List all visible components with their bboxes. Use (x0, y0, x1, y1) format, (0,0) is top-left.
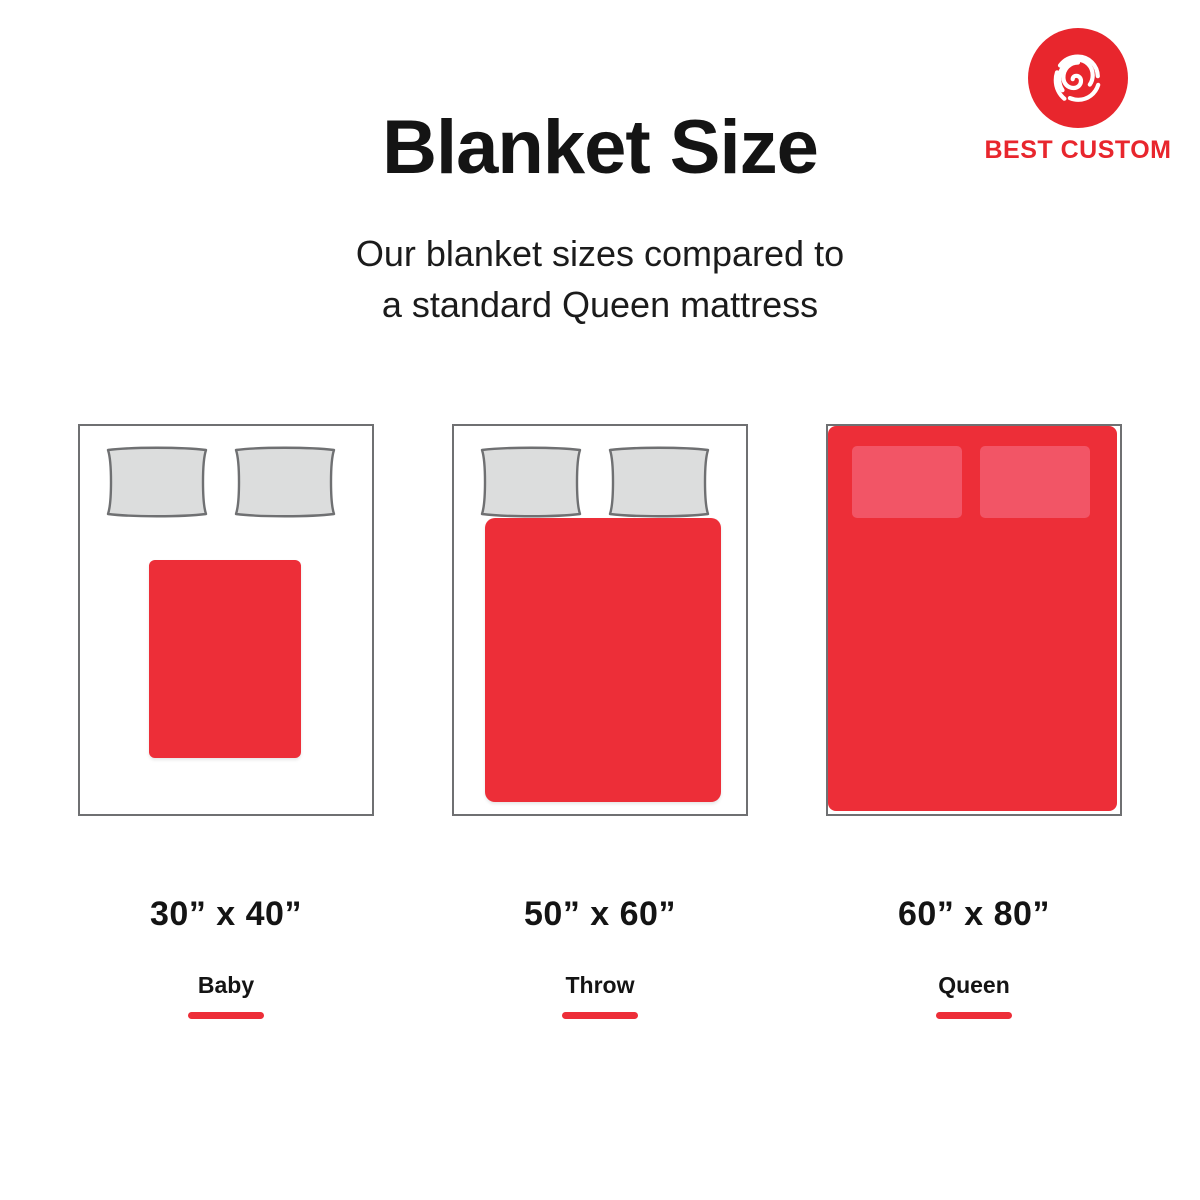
page-subtitle: Our blanket sizes compared to a standard… (0, 228, 1200, 330)
dimensions-label: 60” x 80” (804, 896, 1144, 933)
bed-diagram-row (0, 424, 1200, 824)
pillow-right (604, 446, 714, 518)
accent-underline (936, 1012, 1012, 1019)
pillow-left (852, 446, 962, 518)
size-name-label: Baby (56, 973, 396, 998)
bed-diagram-baby (78, 424, 374, 816)
bed-diagram-throw (452, 424, 748, 816)
dimensions-label: 50” x 60” (430, 896, 770, 933)
blanket-baby (149, 560, 301, 758)
blanket-queen (828, 426, 1117, 811)
size-name-label: Queen (804, 973, 1144, 998)
subtitle-line-1: Our blanket sizes compared to (0, 228, 1200, 279)
caption-row: 30” x 40” Baby 50” x 60” Throw 60” x 80”… (0, 896, 1200, 1056)
pillow-right (980, 446, 1090, 518)
pillow-right (230, 446, 340, 518)
caption-baby: 30” x 40” Baby (56, 896, 396, 1019)
caption-queen: 60” x 80” Queen (804, 896, 1144, 1019)
pillow-left (476, 446, 586, 518)
bed-diagram-queen (826, 424, 1122, 816)
blanket-throw (485, 518, 721, 802)
caption-throw: 50” x 60” Throw (430, 896, 770, 1019)
page-title: Blanket Size (0, 108, 1200, 188)
subtitle-line-2: a standard Queen mattress (0, 279, 1200, 330)
pillow-left (102, 446, 212, 518)
blanket-size-infographic: BEST CUSTOM Blanket Size Our blanket siz… (0, 0, 1200, 1200)
size-name-label: Throw (430, 973, 770, 998)
accent-underline (188, 1012, 264, 1019)
dimensions-label: 30” x 40” (56, 896, 396, 933)
accent-underline (562, 1012, 638, 1019)
